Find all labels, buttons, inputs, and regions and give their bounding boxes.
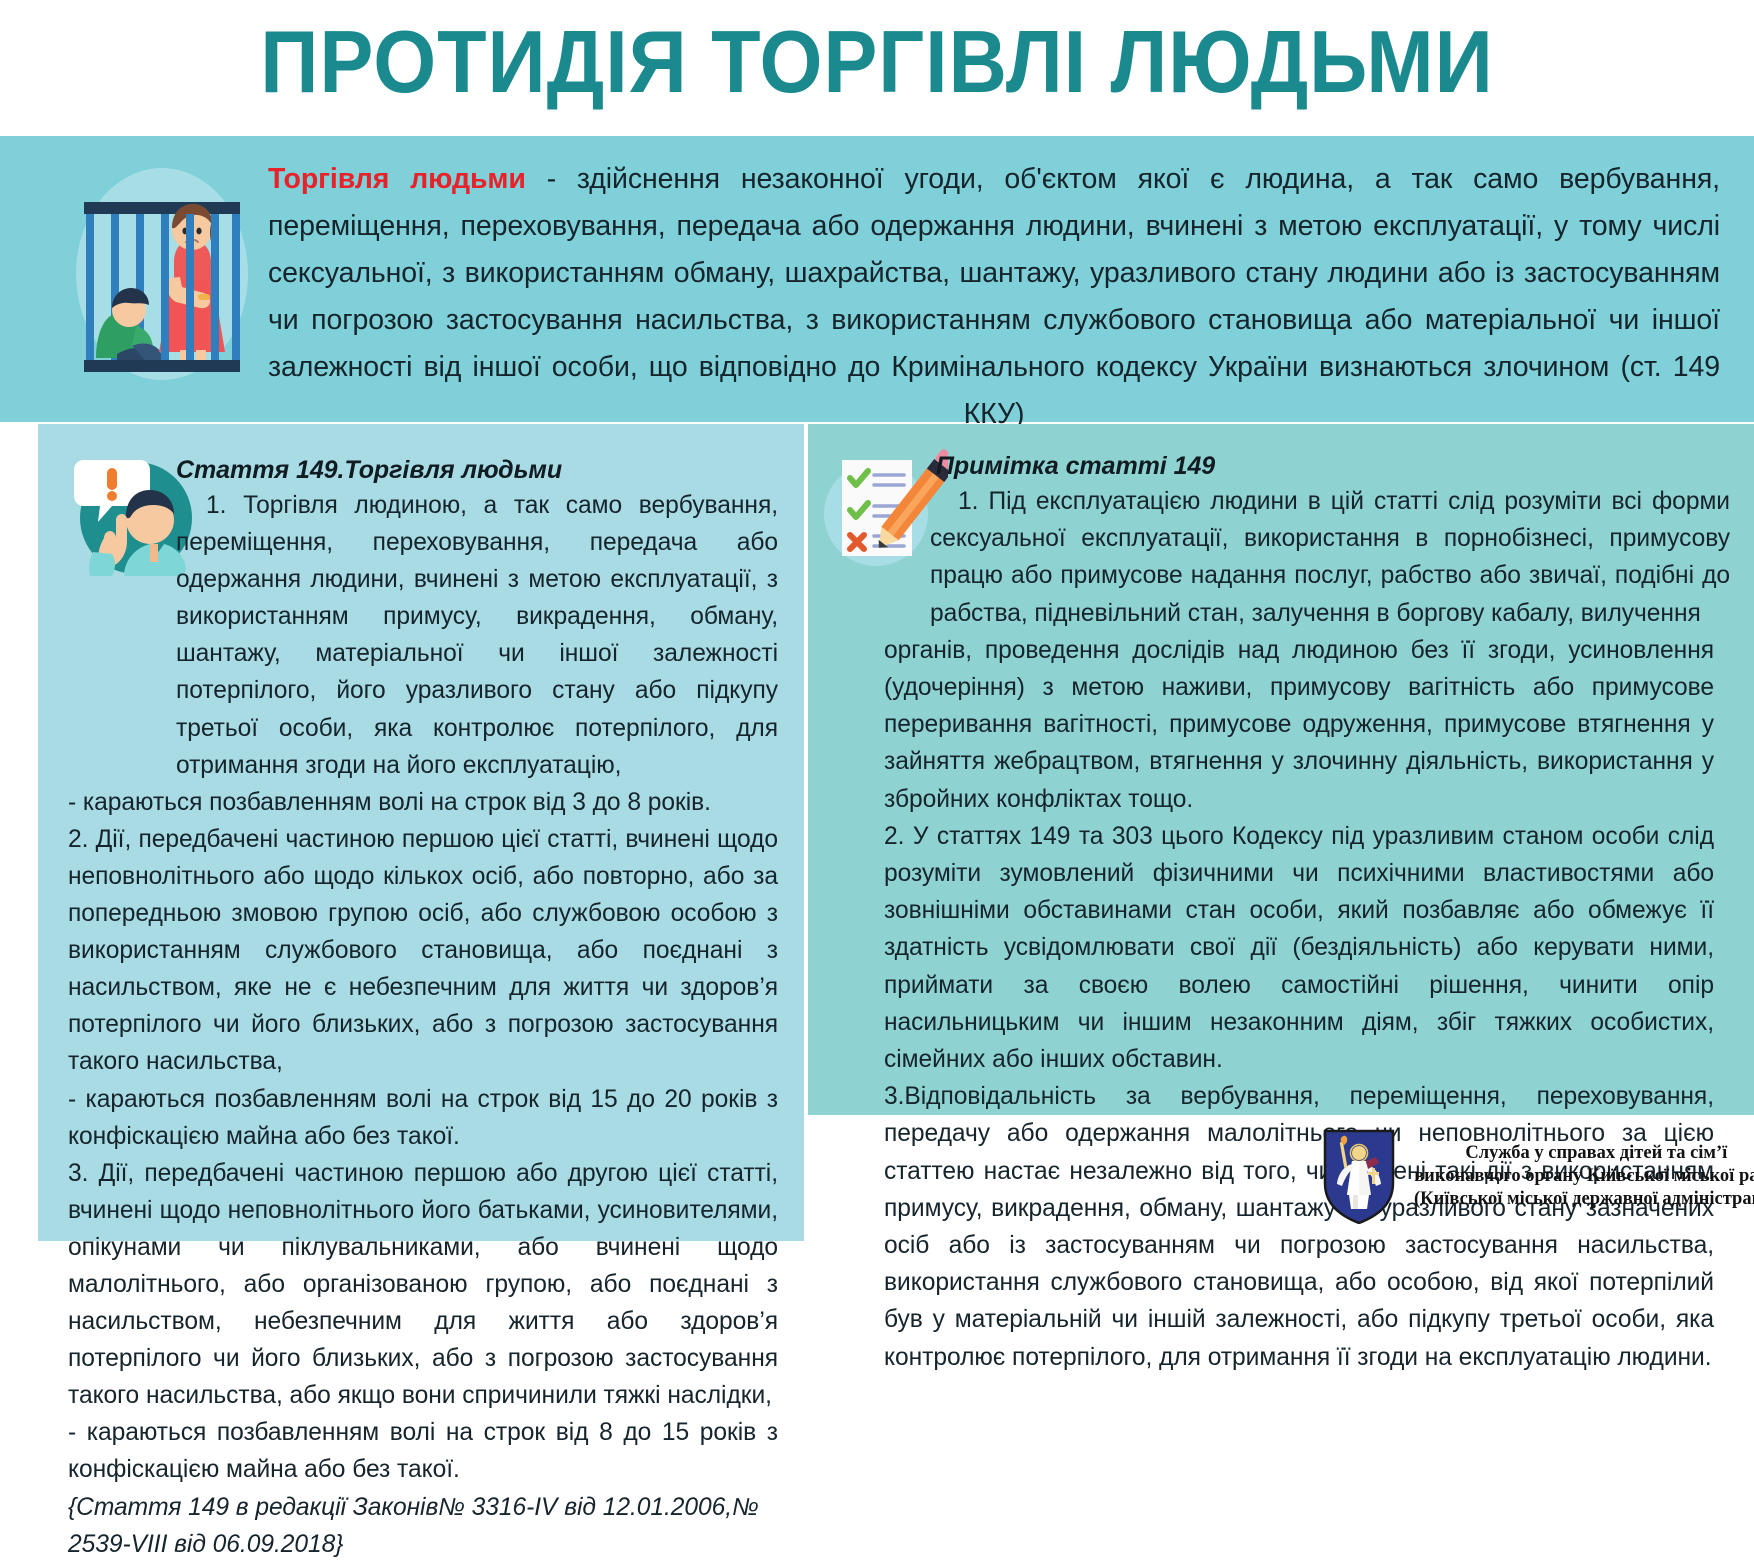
article-para-3: 3. Дії, передбачені частиною першою або …	[68, 1155, 778, 1415]
definition-text: Торгівля людьми - здійснення незаконної …	[268, 156, 1720, 438]
kyiv-coat-of-arms-icon	[1322, 1128, 1396, 1224]
article-para-3-penalty: - караються позбавленням волі на строк в…	[68, 1414, 778, 1488]
note-para-2: 2. У статтях 149 та 303 цього Кодексу пі…	[884, 818, 1714, 1078]
note-para-3: 3.Відповідальність за вербування, перемі…	[884, 1078, 1714, 1376]
article-citation: {Стаття 149 в редакції Законів№ 3316-IV …	[68, 1489, 778, 1563]
article-body: Стаття 149.Торгівля людьми 1. Торгівля л…	[68, 454, 778, 1563]
note-para-1-rest: органів, проведення дослідів над людиною…	[884, 632, 1714, 818]
footer-line-2: виконавчого органу Київської міської рад…	[1414, 1165, 1754, 1188]
footer-line-3: (Київської міської державної адміністрац…	[1414, 1188, 1754, 1211]
article-para-1: 1. Торгівля людиною, а так само вербуван…	[68, 487, 778, 784]
article-para-1-penalty: - караються позбавленням волі на строк в…	[68, 784, 778, 821]
definition-body: - здійснення незаконної угоди, об'єктом …	[268, 163, 1720, 430]
article-panel: Стаття 149.Торгівля людьми 1. Торгівля л…	[38, 424, 804, 1241]
article-para-2: 2. Дії, передбачені частиною першою цієї…	[68, 821, 778, 1081]
note-heading: Примітка статті 149	[936, 450, 1730, 482]
definition-band: Торгівля людьми - здійснення незаконної …	[0, 136, 1754, 422]
note-body: Примітка статті 149 1. Під експлуатацією…	[930, 450, 1730, 1376]
footer-logo: Служба у справах дітей та сім’ї виконавч…	[1322, 1128, 1746, 1224]
footer-text: Служба у справах дітей та сім’ї виконавч…	[1414, 1142, 1754, 1211]
checklist-with-pencil-icon	[818, 444, 948, 572]
note-para-1-indent: 1. Під експлуатацією людини в цій статті…	[930, 483, 1730, 632]
definition-lead-term: Торгівля людьми	[268, 163, 526, 195]
article-para-2-penalty: - караються позбавленням волі на строк в…	[68, 1081, 778, 1155]
page-title: ПРОТИДІЯ ТОРГІВЛІ ЛЮДЬМИ	[70, 18, 1684, 106]
article-heading: Стаття 149.Торгівля людьми	[176, 454, 778, 486]
note-panel: Примітка статті 149 1. Під експлуатацією…	[808, 424, 1754, 1115]
footer-line-1: Служба у справах дітей та сім’ї	[1414, 1142, 1754, 1165]
cage-illustration	[62, 158, 262, 390]
